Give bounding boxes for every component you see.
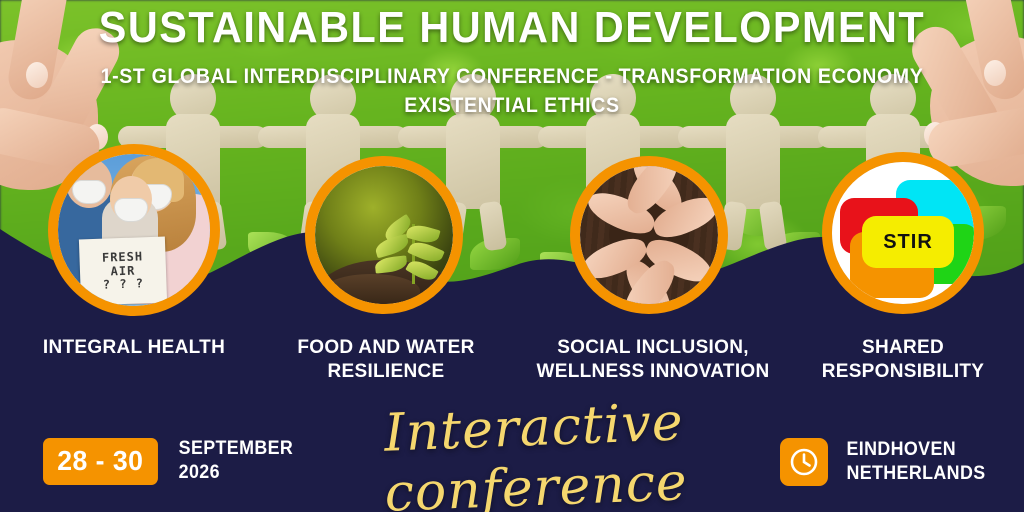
conference-banner: SUSTAINABLE HUMAN DEVELOPMENT 1-ST GLOBA… (0, 0, 1024, 512)
location-text: EINDHOVEN NETHERLANDS (846, 438, 985, 487)
topic-label-social-inclusion: SOCIAL INCLUSION, WELLNESS INNOVATION (524, 336, 782, 385)
topic-circle-food-water[interactable] (305, 156, 463, 314)
hands-circle-photo (580, 166, 718, 304)
topic-circle-social-inclusion[interactable] (570, 156, 728, 314)
location-country: NETHERLANDS (846, 462, 985, 486)
subtitle-line-1: 1-ST GLOBAL INTERDISCIPLINARY CONFERENCE… (36, 64, 988, 90)
sign-line-3: ? ? ? (103, 278, 145, 292)
location-city: EINDHOVEN (846, 438, 985, 462)
topic-label-integral-health: INTEGRAL HEALTH (14, 336, 254, 360)
page-title: SUSTAINABLE HUMAN DEVELOPMENT (31, 4, 994, 52)
date-month-year: SEPTEMBER 2026 (178, 437, 293, 486)
sign-line-2: AIR (110, 264, 135, 277)
location-block: EINDHOVEN NETHERLANDS (780, 438, 990, 487)
clock-icon (780, 438, 828, 486)
topic-label-shared-responsibility: SHARED RESPONSIBILITY (790, 336, 1016, 385)
seedling-soil-photo (315, 166, 453, 304)
topic-circle-integral-health[interactable]: FRESH AIR ? ? ? (48, 144, 220, 316)
logo-square-yellow: STIR (862, 216, 954, 268)
date-block: 28 - 30 SEPTEMBER 2026 (40, 437, 297, 486)
fresh-air-sign: FRESH AIR ? ? ? (79, 237, 167, 306)
sign-line-1: FRESH (102, 250, 144, 264)
stir-logo: STIR (832, 162, 974, 304)
tagline-script: Interactive conference (298, 389, 772, 512)
headline-group: SUSTAINABLE HUMAN DEVELOPMENT 1-ST GLOBA… (0, 4, 1024, 119)
date-month: SEPTEMBER (178, 437, 293, 461)
family-masks-photo: FRESH AIR ? ? ? (58, 154, 210, 306)
topic-circle-shared-responsibility[interactable]: STIR (822, 152, 984, 314)
topic-label-food-water: FOOD AND WATER RESILIENCE (262, 336, 510, 385)
logo-text: STIR (883, 231, 933, 254)
date-range-badge: 28 - 30 (43, 438, 158, 485)
subtitle-line-2: EXISTENTIAL ETHICS (36, 93, 988, 119)
date-year: 2026 (178, 461, 293, 485)
